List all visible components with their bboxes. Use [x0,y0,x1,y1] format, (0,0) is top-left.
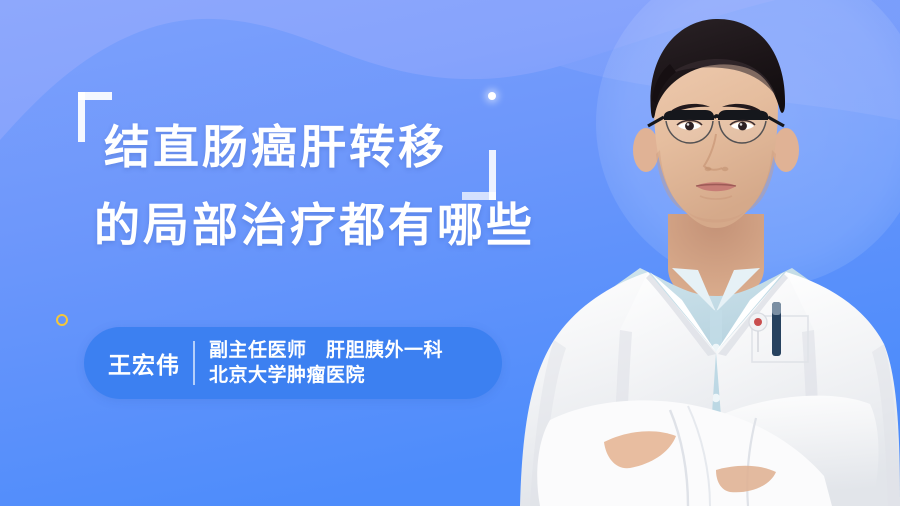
doctor-name: 王宏伟 [84,346,180,380]
doctor-hospital-line: 北京大学肿瘤医院 [209,363,443,388]
white-glow-dot-icon [488,92,496,100]
doctor-portrait-photo [520,0,900,506]
title-block: 结直肠癌肝转移 的局部治疗都有哪些 [104,108,574,264]
title-line-1: 结直肠癌肝转移 [104,108,574,186]
yellow-ring-icon [56,314,68,326]
doctor-credential-badge: 王宏伟 副主任医师 肝胆胰外一科 北京大学肿瘤医院 [84,327,502,399]
doctor-meta: 副主任医师 肝胆胰外一科 北京大学肿瘤医院 [209,338,443,388]
title-line-2: 的局部治疗都有哪些 [94,186,574,264]
badge-divider [193,341,195,385]
video-thumbnail-card: 结直肠癌肝转移 的局部治疗都有哪些 王宏伟 副主任医师 肝胆胰外一科 北京大学肿… [0,0,900,506]
doctor-title-line: 副主任医师 肝胆胰外一科 [209,338,443,363]
